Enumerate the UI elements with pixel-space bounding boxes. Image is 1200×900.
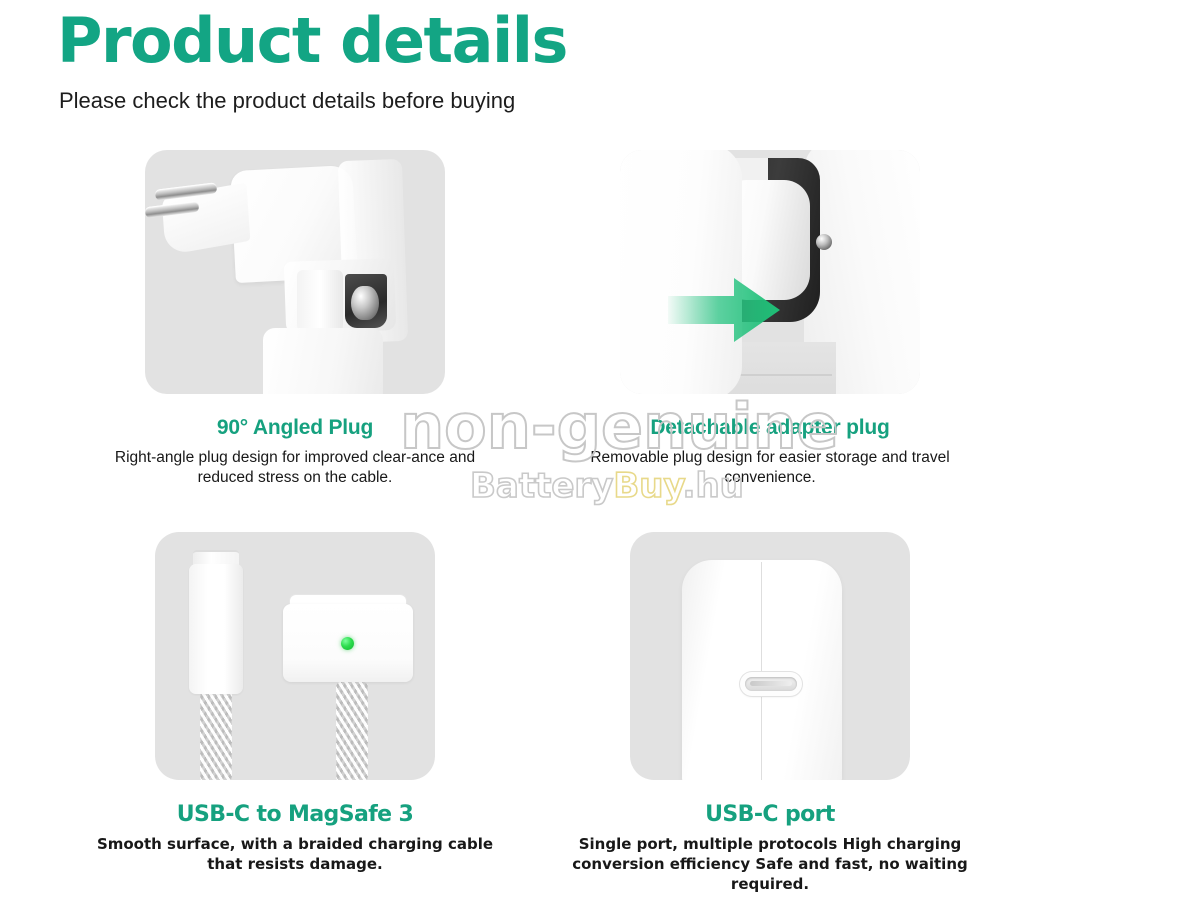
charger-brick-seam xyxy=(761,562,762,780)
usbc-magsafe-illustration xyxy=(155,532,435,780)
feature-body-detachable-adapter: Removable plug design for easier storage… xyxy=(535,448,1005,489)
usbc-port-illustration xyxy=(630,532,910,780)
feature-card-detachable-adapter: Detachable adapter plug Removable plug d… xyxy=(535,150,1005,489)
product-details-page: { "header": { "title": "Product details"… xyxy=(0,0,1200,900)
plug-socket-pin xyxy=(351,286,379,320)
product-photo-detachable-adapter xyxy=(620,150,920,394)
feature-body-usbc-port: Single port, multiple protocols High cha… xyxy=(535,835,1005,894)
adapter-housing-left xyxy=(620,150,742,394)
angled-plug-illustration xyxy=(145,150,445,394)
feature-body-angled-plug: Right-angle plug design for improved cle… xyxy=(60,448,530,489)
product-photo-angled-plug xyxy=(145,150,445,394)
charger-brick-body xyxy=(682,560,842,780)
feature-card-usbc-port: USB-C port Single port, multiple protoco… xyxy=(535,532,1005,894)
usbc-port-tongue xyxy=(750,681,792,686)
feature-heading-detachable-adapter: Detachable adapter plug xyxy=(535,416,1005,440)
page-title: Product details xyxy=(57,8,567,73)
green-arrow-icon xyxy=(668,276,780,344)
braided-cable-left xyxy=(200,690,232,780)
feature-heading-usbc-to-magsafe: USB-C to MagSafe 3 xyxy=(60,802,530,827)
product-photo-usbc-port xyxy=(630,532,910,780)
feature-body-usbc-to-magsafe: Smooth surface, with a braided charging … xyxy=(60,835,530,875)
feature-card-angled-plug: 90° Angled Plug Right-angle plug design … xyxy=(60,150,530,489)
feature-heading-usbc-port: USB-C port xyxy=(535,802,1005,827)
plug-base-shape xyxy=(263,328,383,394)
page-subtitle: Please check the product details before … xyxy=(59,88,515,114)
usbc-connector-body xyxy=(189,564,243,694)
detachable-adapter-illustration xyxy=(620,150,920,394)
adapter-seam-line xyxy=(728,374,832,376)
feature-card-usbc-to-magsafe: USB-C to MagSafe 3 Smooth surface, with … xyxy=(60,532,530,875)
braided-cable-right xyxy=(336,682,368,780)
feature-heading-angled-plug: 90° Angled Plug xyxy=(60,416,530,440)
product-photo-usbc-to-magsafe xyxy=(155,532,435,780)
magsafe-led-indicator xyxy=(341,637,354,650)
adapter-screw xyxy=(816,234,832,250)
